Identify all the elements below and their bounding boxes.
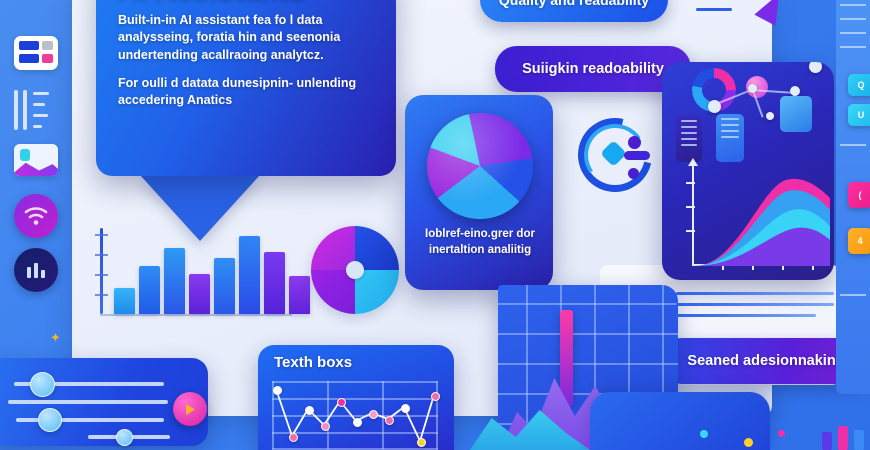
bubble-body: Built-in-in AI assistant fea fo l data a… <box>118 12 378 109</box>
bubble-title: AI Assistants <box>118 0 378 5</box>
data-point <box>353 418 362 427</box>
text-line <box>676 303 834 306</box>
line-chart <box>272 381 438 449</box>
decor-dot-yellow <box>744 438 753 447</box>
gauge-dot-top <box>628 136 641 149</box>
badge-cyan-2[interactable]: U <box>848 104 870 126</box>
pie-slice-4 <box>355 270 399 314</box>
bar-3 <box>164 248 185 314</box>
slider-knob-1[interactable] <box>30 372 55 397</box>
gauge-widget <box>578 118 652 192</box>
text-lines-group <box>676 292 834 325</box>
network-node-1 <box>708 100 721 113</box>
analytics-dark-card[interactable] <box>662 62 834 280</box>
highlight-bar <box>560 310 573 406</box>
decor-dot-cyan <box>700 430 708 438</box>
data-point <box>273 386 282 395</box>
gauge-bar <box>624 151 650 160</box>
controls-card[interactable] <box>0 358 208 446</box>
top-blue-line <box>696 8 732 11</box>
badge-pink[interactable]: ( <box>848 182 870 208</box>
bottom-right-bar-1 <box>822 432 832 450</box>
data-point <box>321 422 330 431</box>
bar-8 <box>289 276 310 314</box>
play-icon <box>184 403 196 416</box>
sidebar-item-analytics[interactable] <box>14 248 58 292</box>
wifi-icon <box>24 206 48 226</box>
bubble-paragraph-1: Built-in-in AI assistant fea fo l data a… <box>118 12 378 64</box>
bar-chart-y-axis <box>100 228 103 314</box>
slider-knob-3[interactable] <box>116 429 133 446</box>
sparkle-icon: ✦ <box>50 330 61 346</box>
bar-1 <box>114 288 135 314</box>
bar-5 <box>214 258 235 314</box>
data-point <box>417 438 426 447</box>
text-line <box>676 314 816 317</box>
chart-icon <box>25 261 47 279</box>
doc-card-glass <box>780 96 812 132</box>
data-point <box>431 392 440 401</box>
bottom-right-bar-3 <box>854 430 864 450</box>
network-node-4 <box>766 112 774 120</box>
doc-card-light <box>716 114 744 162</box>
bar-6 <box>239 236 260 314</box>
pie-chart-main <box>427 113 533 219</box>
data-point <box>289 433 298 442</box>
bar-4 <box>189 274 210 314</box>
text-boxes-card[interactable]: Texth boxs <box>258 345 454 450</box>
bottom-center-card <box>590 392 770 450</box>
ai-assistants-bubble: AI Assistants Built-in-in AI assistant f… <box>96 0 396 176</box>
network-node-5 <box>809 62 822 73</box>
pill-quality-readability[interactable]: Quality and readability <box>480 0 668 22</box>
sidebar-item-dashboard[interactable] <box>14 36 58 70</box>
sidebar-item-image[interactable] <box>14 144 58 176</box>
sidebar-item-bar-lines[interactable] <box>14 90 52 130</box>
network-node-3 <box>790 86 800 96</box>
decor-dot-pink <box>778 430 785 437</box>
doc-card-dark <box>676 116 702 162</box>
slider-knob-2[interactable] <box>38 408 62 432</box>
poster-canvas: ✦ AI Assistants Built-in-in AI assistant… <box>0 0 870 450</box>
bubble-paragraph-2: For oulli d datata dunesipnin- unlending… <box>118 75 378 110</box>
bar-chart <box>92 228 292 320</box>
area-chart <box>682 158 832 274</box>
bottom-right-bar-2 <box>838 426 848 450</box>
text-line <box>676 292 834 295</box>
network-node-2 <box>748 84 757 93</box>
pie-center-hub <box>346 261 364 279</box>
data-point <box>401 404 410 413</box>
text-boxes-title: Texth boxs <box>274 354 352 371</box>
data-point <box>385 416 394 425</box>
pie-card-label: Ioblref-eino.grer dor inertaltion analii… <box>415 227 545 258</box>
play-button[interactable] <box>173 392 207 426</box>
bar-7 <box>264 252 285 314</box>
badge-cyan-1[interactable]: Q <box>848 74 870 96</box>
data-point <box>369 410 378 419</box>
bar-chart-x-axis <box>100 314 292 316</box>
data-point <box>337 398 346 407</box>
pie-insight-card[interactable]: Ioblref-eino.grer dor inertaltion analii… <box>405 95 553 290</box>
gauge-dot-bottom <box>628 168 639 179</box>
sidebar-item-wifi[interactable] <box>14 194 58 238</box>
badge-orange[interactable]: 4 <box>848 228 870 254</box>
data-point <box>305 406 314 415</box>
slider-track-2[interactable] <box>8 400 168 404</box>
area-chart-bands <box>682 158 832 274</box>
bar-2 <box>139 266 160 314</box>
